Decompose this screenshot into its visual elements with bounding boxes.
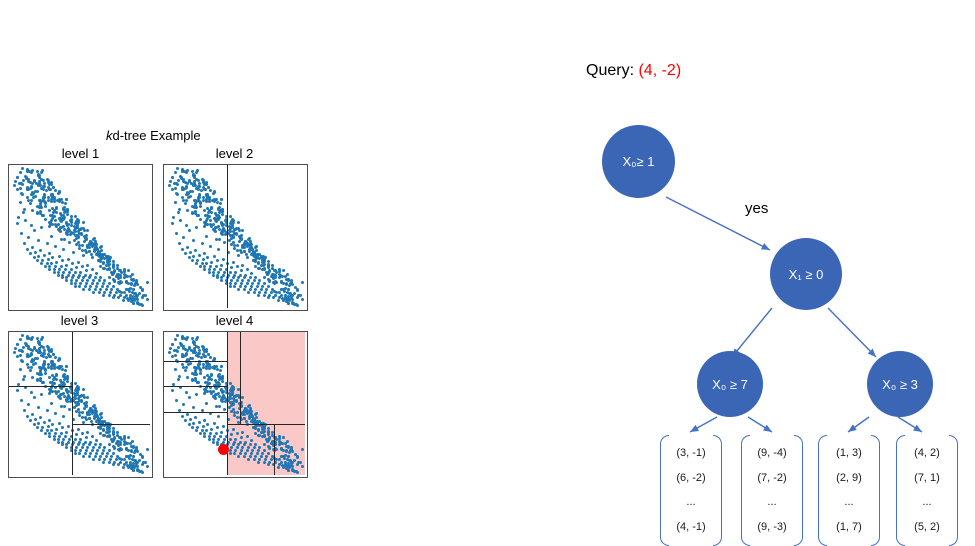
- scatter-point: [108, 427, 111, 430]
- scatter-point: [199, 432, 202, 435]
- scatter-point: [278, 270, 281, 273]
- scatter-point: [17, 216, 20, 219]
- leaf-row: (3, -1): [676, 445, 705, 462]
- scatter-point: [186, 376, 189, 379]
- leaf-row: (9, -4): [757, 445, 786, 462]
- scatter-point: [66, 380, 69, 383]
- scatter-point: [72, 251, 75, 254]
- scatter-point: [246, 256, 249, 259]
- split-line-vertical: [227, 332, 228, 475]
- decision-tree: X₀≥ 1 yes X₁ ≥ 0 X₀ ≥ 7 X₀ ≥ 3 (3, -1) (…: [580, 110, 975, 544]
- scatter-point: [86, 396, 89, 399]
- scatter-point: [112, 296, 115, 299]
- scatter-point: [13, 184, 16, 187]
- scatter-point: [70, 215, 73, 218]
- scatter-point: [122, 299, 125, 302]
- scatter-point: [57, 441, 60, 444]
- scatter-point: [40, 338, 43, 341]
- edge-n1-n2: [732, 308, 772, 357]
- edge-n1-n3: [828, 308, 876, 357]
- scatter-point: [267, 427, 270, 430]
- scatter-point: [82, 455, 85, 458]
- scatter-point: [54, 390, 57, 393]
- scatter-point: [39, 371, 42, 374]
- edge-n2-leaf1: [690, 417, 717, 432]
- scatter-point: [48, 419, 51, 422]
- scatter-point: [100, 245, 103, 248]
- scatter-point: [144, 294, 147, 297]
- scatter-point: [282, 269, 285, 272]
- scatter-point: [55, 378, 58, 381]
- tree-node-x0-ge-3[interactable]: X₀ ≥ 3: [867, 351, 933, 417]
- scatter-point: [48, 392, 51, 395]
- scatter-point: [13, 351, 16, 354]
- scatter-point: [47, 258, 50, 261]
- scatter-point: [77, 261, 80, 264]
- scatter-point: [229, 401, 232, 404]
- scatter-point: [27, 403, 30, 406]
- scatter-point: [178, 242, 181, 245]
- scatter-point: [31, 413, 34, 416]
- scatter-point: [108, 294, 111, 297]
- scatter-point: [74, 285, 77, 288]
- scatter-point: [95, 272, 98, 275]
- scatter-point: [199, 265, 202, 268]
- scatter-point: [186, 336, 189, 339]
- scatter-point: [88, 288, 91, 291]
- scatter-point: [202, 425, 205, 428]
- scatter-point: [192, 184, 195, 187]
- scatter-point: [197, 199, 200, 202]
- scatter-point: [233, 411, 236, 414]
- scatter-point: [223, 229, 226, 232]
- scatter-point: [68, 396, 71, 399]
- scatter-point: [263, 461, 266, 464]
- scatter-point: [263, 427, 266, 430]
- scatter-point: [191, 212, 194, 215]
- leaf-row: ...: [686, 494, 695, 511]
- scatter-point: [203, 419, 206, 422]
- scatter-point: [67, 425, 70, 428]
- panel-label-level-4: level 4: [163, 313, 306, 328]
- scatter-point: [16, 222, 19, 225]
- scatter-point: [186, 246, 189, 249]
- scatter-point: [50, 235, 53, 238]
- scatter-point: [74, 401, 77, 404]
- scatter-point: [171, 343, 174, 346]
- scatter-point: [173, 349, 176, 352]
- scatter-point: [43, 185, 46, 188]
- scatter-point: [47, 425, 50, 428]
- scatter-point: [36, 212, 39, 215]
- scatter-point: [220, 365, 223, 368]
- scatter-point: [92, 243, 95, 246]
- scatter-point: [202, 258, 205, 261]
- scatter-point: [254, 260, 257, 263]
- scatter-point: [224, 400, 227, 403]
- scatter-point: [99, 260, 102, 263]
- scatter-point: [102, 294, 105, 297]
- scatter-point: [24, 219, 27, 222]
- scatter-point: [198, 185, 201, 188]
- scatter-point: [102, 261, 105, 264]
- scatter-point: [182, 178, 185, 181]
- kdtree-figure: kd-tree Example level 1 level 2 level 3 …: [0, 128, 320, 493]
- scatter-point: [66, 224, 69, 227]
- scatter-point: [224, 233, 227, 236]
- leaf-row: (1, 7): [836, 519, 862, 536]
- scatter-point: [40, 171, 43, 174]
- scatter-point: [206, 423, 209, 426]
- scatter-point: [132, 469, 135, 472]
- scatter-point: [247, 410, 250, 413]
- scatter-point: [65, 198, 68, 201]
- scatter-point: [283, 290, 286, 293]
- scatter-point: [53, 215, 56, 218]
- scatter-point: [33, 396, 36, 399]
- scatter-point: [81, 411, 84, 414]
- tree-node-root[interactable]: X₀≥ 1: [602, 125, 675, 198]
- scatter-point: [141, 288, 144, 291]
- scatter-point: [237, 221, 240, 224]
- scatter-point: [195, 262, 198, 265]
- scatter-point: [100, 412, 103, 415]
- scatter-point: [40, 226, 43, 229]
- scatter-point: [238, 240, 241, 243]
- scatter-point: [19, 354, 22, 357]
- scatter-point: [20, 232, 23, 235]
- scatter-point: [277, 299, 280, 302]
- scatter-point: [233, 285, 236, 288]
- scatter-point: [43, 352, 46, 355]
- scatter-point: [209, 390, 212, 393]
- scatter-point: [40, 393, 43, 396]
- split-line-vertical: [240, 332, 241, 424]
- scatter-point: [179, 219, 182, 222]
- scatter-point: [84, 249, 87, 252]
- scatter-point: [205, 402, 208, 405]
- scatter-point: [216, 276, 219, 279]
- scatter-point: [108, 434, 111, 437]
- scatter-point: [118, 449, 121, 452]
- leaf-row: (1, 3): [836, 445, 862, 462]
- scatter-point: [247, 458, 250, 461]
- scatter-point: [16, 389, 19, 392]
- scatter-point: [27, 188, 30, 191]
- scatter-point: [229, 452, 232, 455]
- scatter-point: [108, 443, 111, 446]
- scatter-point: [128, 457, 131, 460]
- scatter-point: [46, 345, 49, 348]
- scatter-point: [220, 431, 223, 434]
- scatter-point: [199, 218, 202, 221]
- scatter-point: [287, 302, 290, 305]
- scatter-point: [174, 201, 177, 204]
- scatter-point: [63, 238, 66, 241]
- scatter-point: [98, 458, 101, 461]
- figure-title: kd-tree Example: [106, 128, 201, 143]
- scatter-point: [181, 170, 184, 173]
- scatter-point: [188, 229, 191, 232]
- scatter-point: [65, 365, 68, 368]
- scatter-point: [232, 261, 235, 264]
- scatter-point: [40, 262, 43, 265]
- scatter-point: [287, 288, 290, 291]
- scatter-point: [54, 412, 57, 415]
- scatter-point: [176, 334, 179, 337]
- scatter-point: [29, 369, 32, 372]
- scatter-point: [51, 194, 54, 197]
- scatter-point: [127, 436, 130, 439]
- scatter-point: [263, 260, 266, 263]
- scatter-point: [71, 262, 74, 265]
- scatter-point: [81, 249, 84, 252]
- scatter-point: [221, 380, 224, 383]
- scatter-point: [186, 182, 189, 185]
- scatter-point: [232, 428, 235, 431]
- leaf-node-3: (1, 3) (2, 9) ... (1, 7): [818, 435, 880, 546]
- scatter-point: [26, 415, 29, 418]
- tree-node-root-label: X₀≥ 1: [622, 154, 654, 169]
- scatter-point: [44, 218, 47, 221]
- scatter-point: [66, 391, 69, 394]
- scatter-point: [203, 209, 206, 212]
- scatter-point: [210, 211, 213, 214]
- scatter-point: [81, 244, 84, 247]
- scatter-point: [285, 278, 288, 281]
- scatter-point: [184, 419, 187, 422]
- scatter-point: [48, 252, 51, 255]
- scatter-point: [22, 211, 25, 214]
- scatter-point: [21, 334, 24, 337]
- scatter-point: [31, 182, 34, 185]
- scatter-point: [86, 264, 89, 267]
- scatter-point: [296, 455, 299, 458]
- leaf-bracket-left-icon: [660, 435, 669, 546]
- scatter-point: [203, 252, 206, 255]
- scatter-point: [18, 182, 21, 185]
- scatter-point: [61, 259, 64, 262]
- scatter-point: [223, 396, 226, 399]
- scatter-point: [31, 169, 34, 172]
- scatter-point: [39, 204, 42, 207]
- scatter-point: [205, 219, 208, 222]
- scatter-point: [117, 463, 120, 466]
- scatter-point: [217, 415, 220, 418]
- scatter-point: [236, 249, 239, 252]
- scatter-point: [195, 226, 198, 229]
- scatter-point: [27, 178, 30, 181]
- scatter-point: [194, 204, 197, 207]
- scatter-point: [46, 409, 49, 412]
- scatter-point: [70, 221, 73, 224]
- scatter-point: [53, 365, 56, 368]
- scatter-point: [222, 425, 225, 428]
- scatter-point: [209, 219, 212, 222]
- scatter-point: [236, 244, 239, 247]
- scatter-point: [203, 435, 206, 438]
- scatter-point: [208, 382, 211, 385]
- scatter-point: [245, 253, 248, 256]
- tree-node-x1-ge-0[interactable]: X₁ ≥ 0: [770, 238, 842, 310]
- scatter-point: [132, 288, 135, 291]
- scatter-point: [58, 255, 61, 258]
- tree-node-x0-ge-7[interactable]: X₀ ≥ 7: [697, 351, 763, 417]
- leaf-row: (7, 1): [914, 470, 940, 487]
- scatter-point: [246, 435, 249, 438]
- tree-node-x1-ge-0-label: X₁ ≥ 0: [789, 267, 824, 282]
- scatter-point: [301, 281, 304, 284]
- leaf-row: (2, 9): [836, 470, 862, 487]
- scatter-point: [132, 455, 135, 458]
- scatter-point: [247, 243, 250, 246]
- scatter-point: [62, 415, 65, 418]
- scatter-point: [57, 395, 60, 398]
- scatter-point: [53, 438, 56, 441]
- scatter-point: [68, 408, 71, 411]
- scatter-point: [191, 190, 194, 193]
- query-label-text: Query:: [586, 62, 634, 79]
- scatter-point: [74, 234, 77, 237]
- scatter-point: [54, 245, 57, 248]
- scatter-point: [60, 405, 63, 408]
- scatter-point: [27, 345, 30, 348]
- scatter-point: [196, 381, 199, 384]
- panel-label-level-2: level 2: [163, 146, 306, 161]
- scatter-point: [199, 205, 202, 208]
- scatter-point: [102, 461, 105, 464]
- scatter-point: [263, 276, 266, 279]
- scatter-point: [86, 431, 89, 434]
- scatter-point: [98, 291, 101, 294]
- scatter-point: [16, 343, 19, 346]
- scatter-point: [102, 428, 105, 431]
- scatter-point: [130, 449, 133, 452]
- scatter-point: [78, 452, 81, 455]
- scatter-point: [67, 258, 70, 261]
- scatter-point: [144, 461, 147, 464]
- scatter-point: [257, 267, 260, 270]
- scatter-point: [203, 268, 206, 271]
- scatter-point: [82, 221, 85, 224]
- scatter-point: [30, 353, 33, 356]
- scatter-point: [181, 337, 184, 340]
- scatter-point: [257, 294, 260, 297]
- scatter-point: [175, 232, 178, 235]
- scatter-point: [299, 294, 302, 297]
- scatter-point: [43, 196, 46, 199]
- scatter-point: [185, 353, 188, 356]
- scatter-point: [31, 376, 34, 379]
- scatter-point: [255, 245, 258, 248]
- scatter-point: [199, 372, 202, 375]
- scatter-point: [53, 198, 56, 201]
- scatter-point: [209, 223, 212, 226]
- scatter-point: [189, 418, 192, 421]
- scatter-point: [75, 433, 78, 436]
- scatter-point: [95, 439, 98, 442]
- scatter-point: [229, 285, 232, 288]
- scatter-point: [84, 416, 87, 419]
- leaf-bracket-left-icon: [896, 435, 905, 546]
- scatter-point: [206, 256, 209, 259]
- scatter-point: [141, 455, 144, 458]
- scatter-point: [213, 422, 216, 425]
- scatter-point: [53, 382, 56, 385]
- scatter-point: [206, 194, 209, 197]
- scatter-point: [78, 285, 81, 288]
- scatter-point: [222, 258, 225, 261]
- scatter-point: [42, 199, 45, 202]
- scatter-point: [19, 201, 22, 204]
- scatter-point: [253, 291, 256, 294]
- scatter-point: [68, 241, 71, 244]
- scatter-point: [29, 202, 32, 205]
- scatter-point: [241, 264, 244, 267]
- scatter-point: [112, 264, 115, 267]
- scatter-point: [283, 457, 286, 460]
- scatter-point: [99, 427, 102, 430]
- scatter-point: [112, 427, 115, 430]
- scatter-point: [273, 282, 276, 285]
- scatter-point: [221, 224, 224, 227]
- leaf-bracket-right-icon: [794, 435, 803, 546]
- scatter-point: [220, 264, 223, 267]
- scatter-point: [221, 213, 224, 216]
- scatter-point: [192, 422, 195, 425]
- scatter-point: [82, 288, 85, 291]
- scatter-point: [217, 248, 220, 251]
- scatter-point: [186, 413, 189, 416]
- scatter-point: [36, 357, 39, 360]
- scatter-point: [260, 255, 263, 258]
- scatter-point: [250, 253, 253, 256]
- scatter-point: [26, 337, 29, 340]
- scatter-point: [83, 407, 86, 410]
- scatter-point: [285, 445, 288, 448]
- scatter-point: [48, 268, 51, 271]
- scatter-point: [204, 214, 207, 217]
- scatter-point: [196, 214, 199, 217]
- scatter-point: [111, 440, 114, 443]
- query-point-marker: [218, 444, 229, 455]
- scatter-point: [241, 396, 244, 399]
- scatter-point: [78, 411, 81, 414]
- panel-level-2: [163, 164, 308, 311]
- scatter-point: [37, 184, 40, 187]
- scatter-point: [233, 244, 236, 247]
- scatter-point: [191, 357, 194, 360]
- scatter-point: [37, 406, 40, 409]
- scatter-point: [14, 180, 17, 183]
- scatter-point: [168, 351, 171, 354]
- scatter-point: [191, 379, 194, 382]
- panel-level-4: [163, 331, 308, 478]
- scatter-point: [65, 446, 68, 449]
- scatter-point: [213, 255, 216, 258]
- scatter-point: [185, 224, 188, 227]
- scatter-point: [29, 252, 32, 255]
- scatter-point: [171, 176, 174, 179]
- scatter-point: [112, 463, 115, 466]
- scatter-point: [77, 428, 80, 431]
- scatter-point: [76, 224, 79, 227]
- scatter-point: [40, 429, 43, 432]
- scatter-point: [48, 376, 51, 379]
- scatter-point: [112, 260, 115, 263]
- scatter-point: [82, 254, 85, 257]
- scatter-point: [53, 271, 56, 274]
